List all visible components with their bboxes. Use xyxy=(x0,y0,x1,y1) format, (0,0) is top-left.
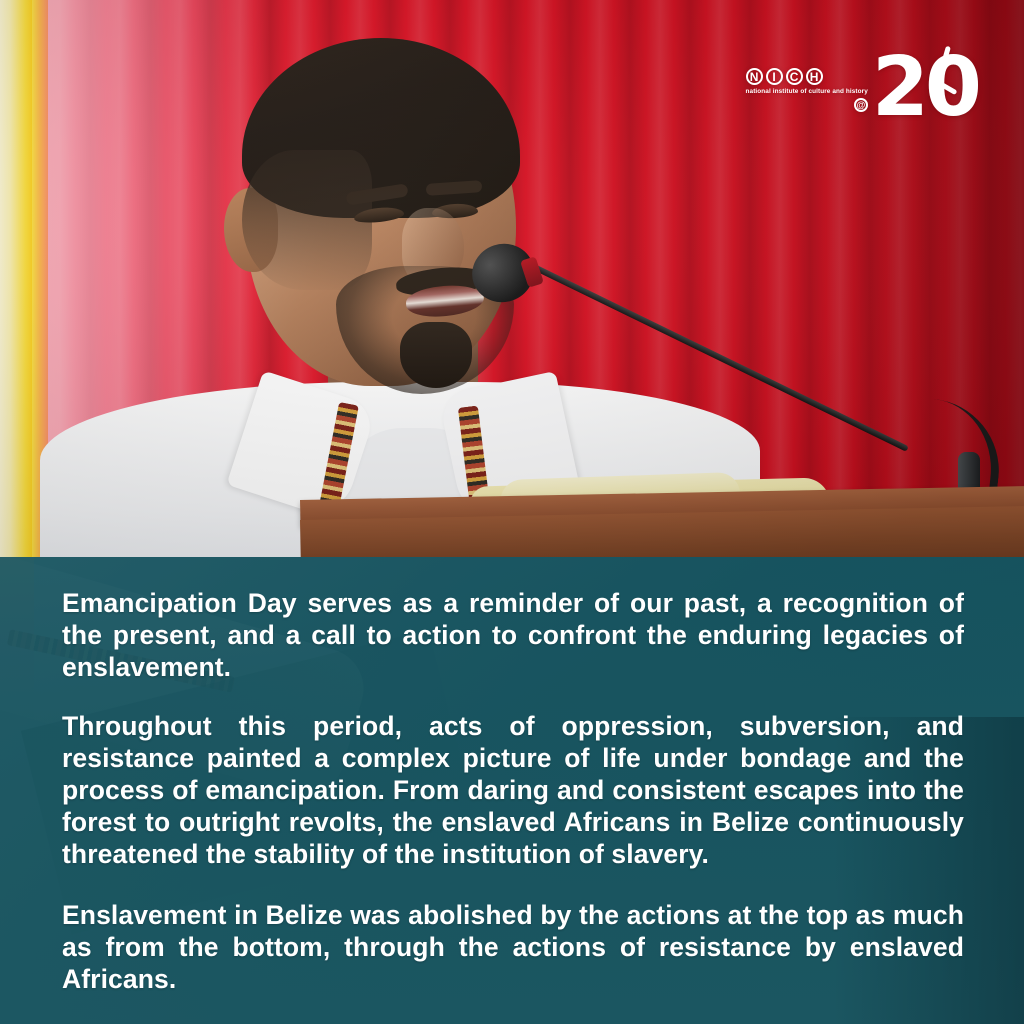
anniversary-number: 20 xyxy=(872,40,978,135)
statement-paragraph-1: Emancipation Day serves as a reminder of… xyxy=(62,587,964,684)
nich-letter-h: H xyxy=(806,68,823,85)
goatee xyxy=(400,322,472,388)
hair-fade xyxy=(242,150,372,290)
nich-letter-n: N xyxy=(746,68,763,85)
statement-paragraph-3: Enslavement in Belize was abolished by t… xyxy=(62,899,964,996)
nich-logo-left: N I C H national institute of culture an… xyxy=(746,54,868,112)
statement-paragraph-2: Throughout this period, acts of oppressi… xyxy=(62,710,964,871)
nich-tagline: national institute of culture and histor… xyxy=(746,88,868,95)
nich-letter-c: C xyxy=(786,68,803,85)
nich-letter-i: I xyxy=(766,68,783,85)
emancipation-day-poster: N I C H national institute of culture an… xyxy=(0,0,1024,1024)
statement-panel: Emancipation Day serves as a reminder of… xyxy=(0,557,1024,1024)
anniversary-20-mark: 20 xyxy=(872,54,978,121)
nich-20-logo[interactable]: N I C H national institute of culture an… xyxy=(746,54,978,121)
nich-letters: N I C H xyxy=(746,68,823,85)
at-symbol-badge: @ xyxy=(854,98,868,112)
statement-text: Emancipation Day serves as a reminder of… xyxy=(62,587,964,995)
